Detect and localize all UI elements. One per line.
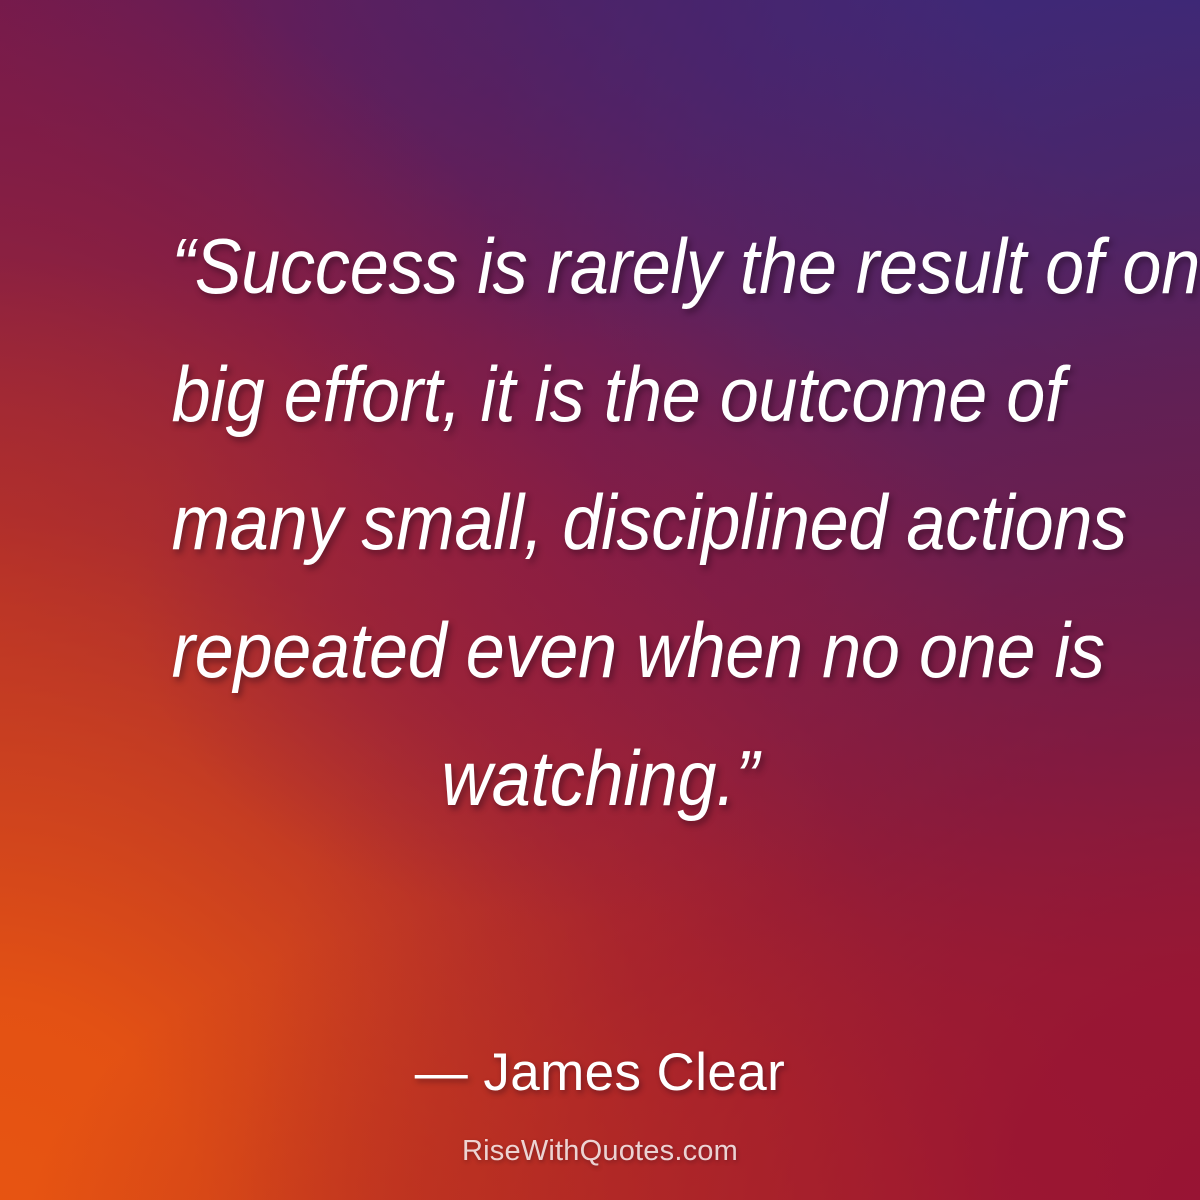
quote-line: “Success is rarely the result of one <box>172 202 1029 330</box>
quote-line: big effort, it is the outcome of <box>172 330 1029 458</box>
quote-line: watching.” <box>172 714 1029 842</box>
card-content: “Success is rarely the result of one big… <box>0 0 1200 1200</box>
site-watermark: RiseWithQuotes.com <box>0 1134 1200 1169</box>
quote-text: “Success is rarely the result of one big… <box>40 202 1160 842</box>
quote-attribution: — James Clear <box>0 1044 1200 1102</box>
quote-card: “Success is rarely the result of one big… <box>0 0 1200 1200</box>
quote-line: many small, disciplined actions <box>172 458 1029 586</box>
quote-line: repeated even when no one is <box>172 586 1029 714</box>
